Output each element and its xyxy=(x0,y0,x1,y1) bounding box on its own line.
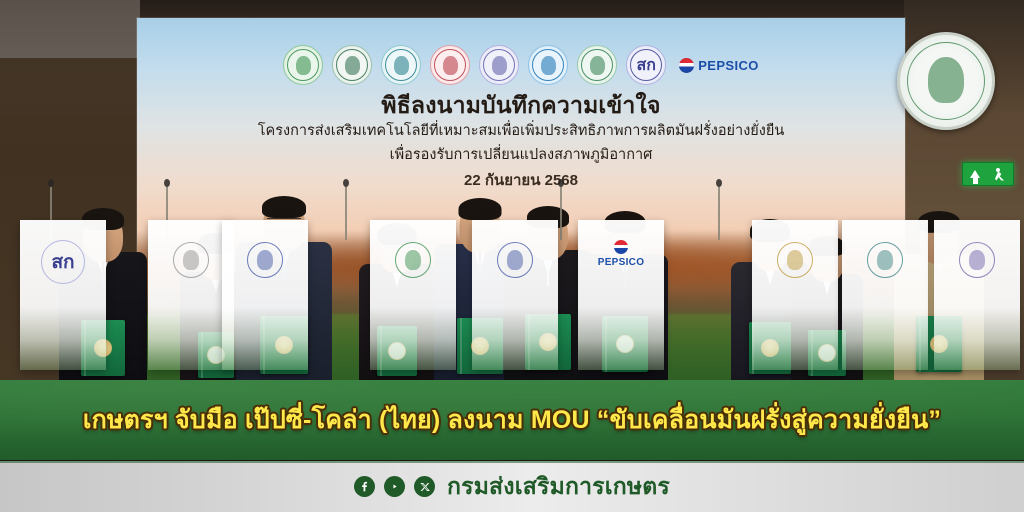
pepsico-globe-icon-podium xyxy=(614,240,628,254)
facebook-icon[interactable] xyxy=(354,476,375,497)
podium-pepsico: PEPSICO xyxy=(578,220,664,370)
podium-seal-4-logo xyxy=(393,240,433,280)
microphone-stand-4 xyxy=(560,184,562,240)
podium-seal-5 xyxy=(472,220,558,370)
podium-seal-8 xyxy=(842,220,928,370)
podium-seal-5-logo xyxy=(495,240,535,280)
footer-divider xyxy=(0,461,1024,463)
podium-seal-3 xyxy=(222,220,308,370)
headline-banner: เกษตรฯ จับมือ เป๊ปซี่-โคล่า (ไทย) ลงนาม … xyxy=(0,380,1024,460)
headline-text: เกษตรฯ จับมือ เป๊ปซี่-โคล่า (ไทย) ลงนาม … xyxy=(83,400,941,440)
footer-organization-name: กรมส่งเสริมการเกษตร xyxy=(447,469,670,505)
podium-seal-7-logo xyxy=(775,240,815,280)
podium-seal-4 xyxy=(370,220,456,370)
podium-seal-3-logo xyxy=(245,240,285,280)
podium-sor-kor-logo: สก xyxy=(41,240,85,284)
podium-sor-kor: สก xyxy=(20,220,106,370)
podium-seal-2-logo xyxy=(171,240,211,280)
podium-seal-8-logo xyxy=(865,240,905,280)
podium-pepsico-label: PEPSICO xyxy=(598,257,645,268)
podium-seal-9 xyxy=(934,220,1020,370)
podium-seal-7 xyxy=(752,220,838,370)
podium-pepsico-logo: PEPSICO xyxy=(598,240,645,268)
footer-bar: กรมส่งเสริมการเกษตร xyxy=(0,461,1024,512)
youtube-icon[interactable] xyxy=(384,476,405,497)
podium-seal-9-logo xyxy=(957,240,997,280)
x-twitter-icon[interactable] xyxy=(414,476,435,497)
microphone-stand-3 xyxy=(345,184,347,240)
microphone-stand-5 xyxy=(718,184,720,240)
image-canvas: กรมวิชาการเกษตร กรมส่งเสริมการเกษตร กรมพ… xyxy=(0,0,1024,512)
